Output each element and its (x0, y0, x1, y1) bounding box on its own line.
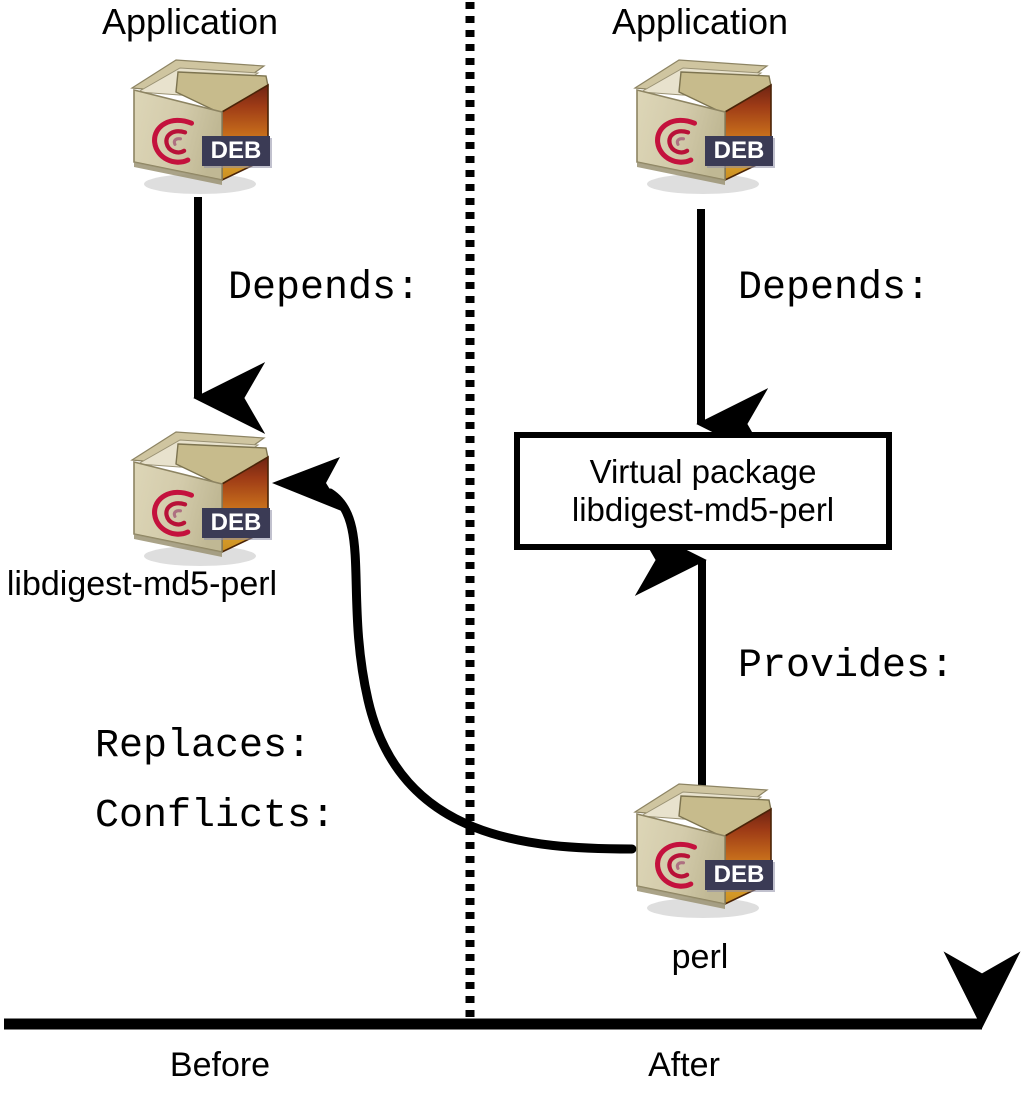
package-icon-app-before (132, 60, 272, 194)
depends-label-after: Depends: (738, 267, 930, 312)
app-label-after: Application (612, 2, 788, 42)
package-label-perl: perl (672, 938, 729, 976)
virtual-package-line2: libdigest-md5-perl (572, 491, 834, 529)
diagram-canvas: DEB (0, 0, 1024, 1094)
depends-label-before: Depends: (228, 267, 420, 312)
virtual-package-box: Virtual package libdigest-md5-perl (514, 432, 892, 550)
app-label-before: Application (102, 2, 278, 42)
package-label-libdigest: libdigest-md5-perl (7, 565, 277, 603)
package-icon-libdigest (132, 432, 272, 566)
provides-label: Provides: (738, 645, 954, 690)
timeline-label-before: Before (170, 1046, 270, 1084)
package-icon-app-after (635, 60, 775, 194)
virtual-package-line1: Virtual package (590, 453, 817, 491)
replaces-label: Replaces: (95, 725, 311, 770)
conflicts-label: Conflicts: (95, 795, 335, 840)
package-icon-perl (635, 784, 775, 918)
timeline-label-after: After (648, 1046, 720, 1084)
